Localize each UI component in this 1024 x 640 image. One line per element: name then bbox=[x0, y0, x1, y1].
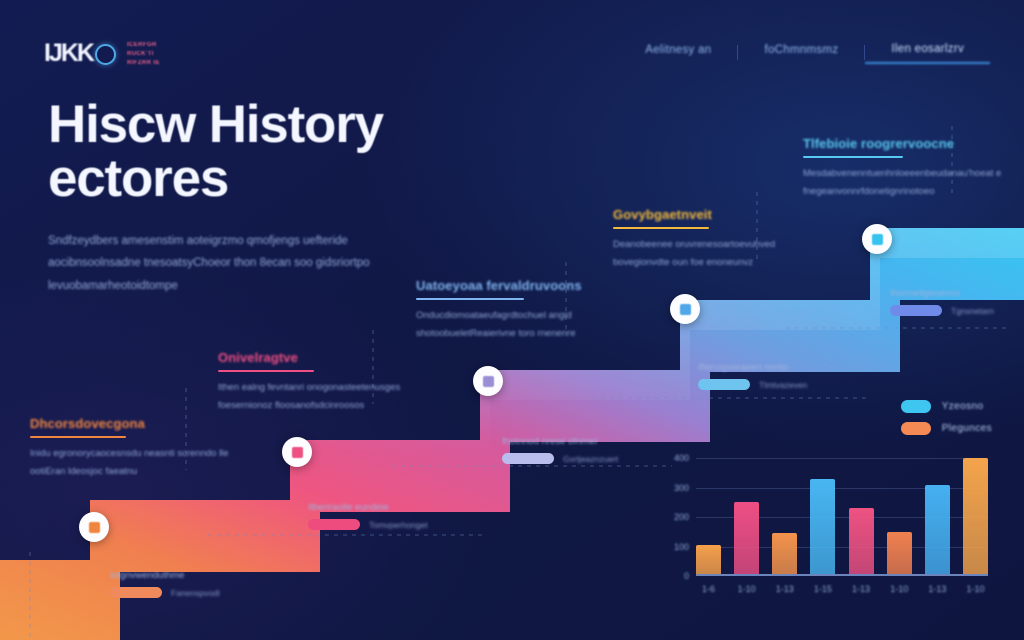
step-desc-1: Inidu egronorycaocesnsdu neasnti scrennd… bbox=[30, 445, 245, 480]
legend-label-1: Yzeosno bbox=[942, 401, 984, 412]
step-title-2: Onivelragtve bbox=[218, 350, 433, 365]
legend-swatch-1 bbox=[901, 400, 931, 413]
chart-x-labels: 1-61-101-131-151-131-101-131-10 bbox=[696, 584, 988, 594]
mini-label-1-title: Iolgnvwenduthme bbox=[110, 570, 280, 581]
timeline-node-5[interactable] bbox=[862, 224, 892, 254]
mini-label-5[interactable]: Ihormeligeoenns Tgnsnetarn bbox=[890, 288, 1024, 316]
mini-label-1-value: Fanenspvodl bbox=[171, 588, 220, 598]
mini-label-4-title: Iflerusjvwraeen norito bbox=[698, 362, 868, 373]
logo-tagline: ICERFGR RUCK'TI RIFZRR IE bbox=[127, 41, 160, 67]
mini-label-2-value: Tomvperhonget bbox=[369, 520, 428, 530]
step-desc-5: Mesdabvenenntuenhnloeeenbeudanau'hoeat e… bbox=[803, 165, 1008, 200]
nav-item-3[interactable]: Ilen eosarlzrv bbox=[865, 40, 990, 64]
step-title-5: Tlfebioie roogrervoocne bbox=[803, 136, 1008, 151]
step-rule-1 bbox=[30, 436, 126, 438]
mini-label-1[interactable]: Iolgnvwenduthme Fanenspvodl bbox=[110, 570, 280, 598]
bar-4[interactable] bbox=[810, 479, 835, 576]
y-tick-200: 200 bbox=[674, 512, 689, 522]
star-marker-icon bbox=[483, 376, 494, 387]
legend-entry-2[interactable]: Plegunces bbox=[901, 422, 992, 435]
step-title-1: Dhcorsdovecgona bbox=[30, 416, 245, 431]
mini-label-5-value: Tgnsnetarn bbox=[951, 306, 994, 316]
mini-label-2-title: Itberiraolle eundeie bbox=[308, 502, 478, 513]
mini-label-4-value: Tlmtvazeven bbox=[759, 380, 807, 390]
x-tick-3: 1-13 bbox=[772, 584, 797, 594]
mini-label-4-pill bbox=[698, 379, 750, 390]
x-tick-4: 1-15 bbox=[810, 584, 835, 594]
step-callout-3[interactable]: Uatoeyoaa fervaldruvoons Onducdiomoataeu… bbox=[416, 278, 641, 342]
bar-8[interactable] bbox=[963, 458, 988, 576]
chart-bars bbox=[696, 458, 988, 576]
timeline-node-4[interactable] bbox=[670, 294, 700, 324]
x-tick-5: 1-13 bbox=[849, 584, 874, 594]
mini-label-3-value: Gxrtjeaznzuert bbox=[563, 454, 618, 464]
slide-canvas: IJKK ICERFGR RUCK'TI RIFZRR IE Aelitnesy… bbox=[0, 0, 1024, 640]
page-subtitle: Sndfzeydbers amesenstim aoteigrzmo qmofj… bbox=[48, 230, 383, 297]
y-tick-0: 0 bbox=[684, 571, 689, 581]
mini-label-3-pill bbox=[502, 453, 554, 464]
x-tick-7: 1-13 bbox=[925, 584, 950, 594]
x-tick-6: 1-10 bbox=[887, 584, 912, 594]
step-callout-4[interactable]: Govybgaetnveit Deanobeenee oruvrenesoart… bbox=[613, 207, 828, 271]
chart-x-axis bbox=[696, 574, 988, 576]
step-callout-1[interactable]: Dhcorsdovecgona Inidu egronorycaocesnsdu… bbox=[30, 416, 245, 480]
step-desc-4: Deanobeenee oruvrenesoartoevuhved bovegi… bbox=[613, 236, 828, 271]
timeline-node-1[interactable] bbox=[79, 512, 109, 542]
step-callout-2[interactable]: Onivelragtve Ithen ealng fevntanri onogo… bbox=[218, 350, 433, 414]
legend-label-2: Plegunces bbox=[942, 423, 992, 434]
logo-tagline-line-2: RUCK'TI bbox=[127, 50, 160, 58]
page-title: Hiscw History ectores bbox=[48, 98, 468, 206]
bar-5[interactable] bbox=[849, 508, 874, 576]
logo-tagline-line-1: ICERFGR bbox=[127, 41, 160, 49]
top-navigation: Aelitnesy an foChmnmsmz Ilen eosarlzrv bbox=[619, 40, 990, 64]
logo-tagline-line-3: RIFZRR IE bbox=[127, 59, 160, 67]
mini-label-3[interactable]: Ihotnnod nrese ofnrner Gxrtjeaznzuert bbox=[502, 436, 672, 464]
lock-marker-icon bbox=[292, 447, 303, 458]
nav-item-1[interactable]: Aelitnesy an bbox=[619, 41, 737, 63]
brand-logo[interactable]: IJKK ICERFGR RUCK'TI RIFZRR IE bbox=[44, 40, 160, 67]
bar-6[interactable] bbox=[887, 532, 912, 576]
mini-label-3-title: Ihotnnod nrese ofnrner bbox=[502, 436, 672, 447]
step-rule-2 bbox=[218, 370, 314, 372]
star-marker-icon bbox=[872, 234, 883, 245]
step-title-4: Govybgaetnveit bbox=[613, 207, 828, 222]
x-tick-8: 1-10 bbox=[963, 584, 988, 594]
y-tick-300: 300 bbox=[674, 483, 689, 493]
nav-item-2[interactable]: foChmnmsmz bbox=[738, 41, 864, 63]
mini-label-5-title: Ihormeligeoenns bbox=[890, 288, 1024, 299]
circle-ring-icon bbox=[95, 44, 116, 65]
x-tick-1: 1-6 bbox=[696, 584, 721, 594]
bar-1[interactable] bbox=[696, 545, 721, 576]
step-rule-4 bbox=[613, 227, 709, 229]
x-tick-2: 1-10 bbox=[734, 584, 759, 594]
y-tick-400: 400 bbox=[674, 453, 689, 463]
step-title-3: Uatoeyoaa fervaldruvoons bbox=[416, 278, 641, 293]
y-tick-100: 100 bbox=[674, 542, 689, 552]
bar-chart: Yzeosno Plegunces 400 300 200 100 0 1-61… bbox=[668, 398, 998, 603]
step-desc-2: Ithen ealng fevntanri onogonasteetenusge… bbox=[218, 379, 433, 414]
chart-legend: Yzeosno Plegunces bbox=[901, 400, 992, 435]
flag-marker-icon bbox=[89, 522, 100, 533]
mini-label-1-pill bbox=[110, 587, 162, 598]
step-rule-3 bbox=[416, 298, 524, 300]
logo-wordmark: IJKK bbox=[44, 41, 93, 66]
bar-3[interactable] bbox=[772, 533, 797, 576]
mini-label-2-pill bbox=[308, 519, 360, 530]
mini-label-5-pill bbox=[890, 305, 942, 316]
step-desc-3: Onducdiomoataeufagrdtochuel angid shotoo… bbox=[416, 307, 641, 342]
timeline-node-3[interactable] bbox=[473, 366, 503, 396]
step-rule-5 bbox=[803, 156, 903, 158]
step-callout-5[interactable]: Tlfebioie roogrervoocne Mesdabvenenntuen… bbox=[803, 136, 1008, 200]
legend-entry-1[interactable]: Yzeosno bbox=[901, 400, 992, 413]
timeline-node-2[interactable] bbox=[282, 437, 312, 467]
mini-label-2[interactable]: Itberiraolle eundeie Tomvperhonget bbox=[308, 502, 478, 530]
legend-swatch-2 bbox=[901, 422, 931, 435]
star-marker-icon bbox=[680, 304, 691, 315]
bar-2[interactable] bbox=[734, 502, 759, 576]
chart-plot-area: 400 300 200 100 0 bbox=[696, 458, 988, 576]
bar-7[interactable] bbox=[925, 485, 950, 576]
mini-label-4[interactable]: Iflerusjvwraeen norito Tlmtvazeven bbox=[698, 362, 868, 390]
